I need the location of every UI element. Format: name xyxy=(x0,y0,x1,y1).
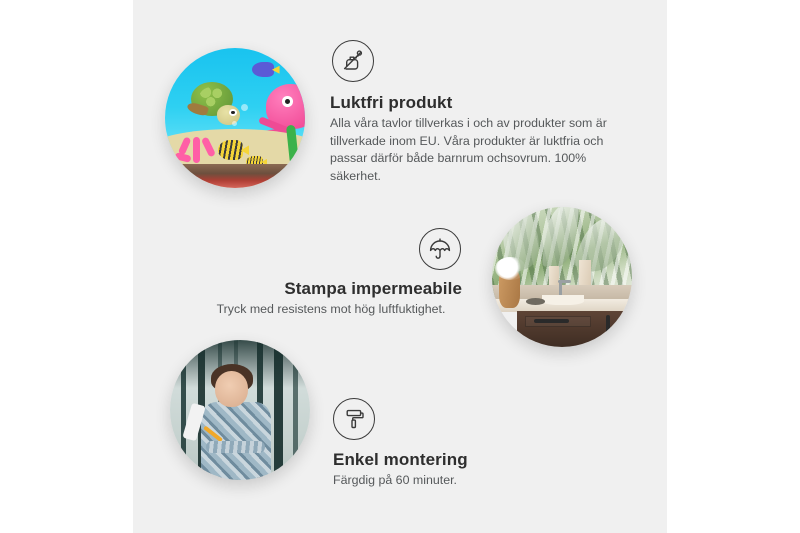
bathroom-wallpaper-photo xyxy=(492,207,632,347)
feature-odourless: Luktfri produkt Alla våra tavlor tillver… xyxy=(330,40,620,185)
feature-waterproof: Stampa impermeabile Tryck med resistens … xyxy=(200,228,462,319)
feature-title: Luktfri produkt xyxy=(330,93,620,113)
feature-title: Stampa impermeabile xyxy=(200,279,462,299)
umbrella-icon xyxy=(419,228,461,270)
feature-body: Färgdig på 60 minuter. xyxy=(333,472,593,490)
woman-paint-roller-forest-photo xyxy=(170,340,310,480)
feature-title: Enkel montering xyxy=(333,450,593,470)
no-fragrance-icon xyxy=(332,40,374,82)
feature-assembly: Enkel montering Färgdig på 60 minuter. xyxy=(333,398,593,490)
feature-body: Alla våra tavlor tillverkas i och av pro… xyxy=(330,115,620,185)
coral-illustration xyxy=(173,121,221,163)
product-benefits-infographic: Luktfri produkt Alla våra tavlor tillver… xyxy=(0,0,800,533)
feature-body: Tryck med resistens mot hög luftfuktighe… xyxy=(200,301,462,319)
paint-roller-icon xyxy=(333,398,375,440)
underwater-cartoon-photo xyxy=(165,48,305,188)
